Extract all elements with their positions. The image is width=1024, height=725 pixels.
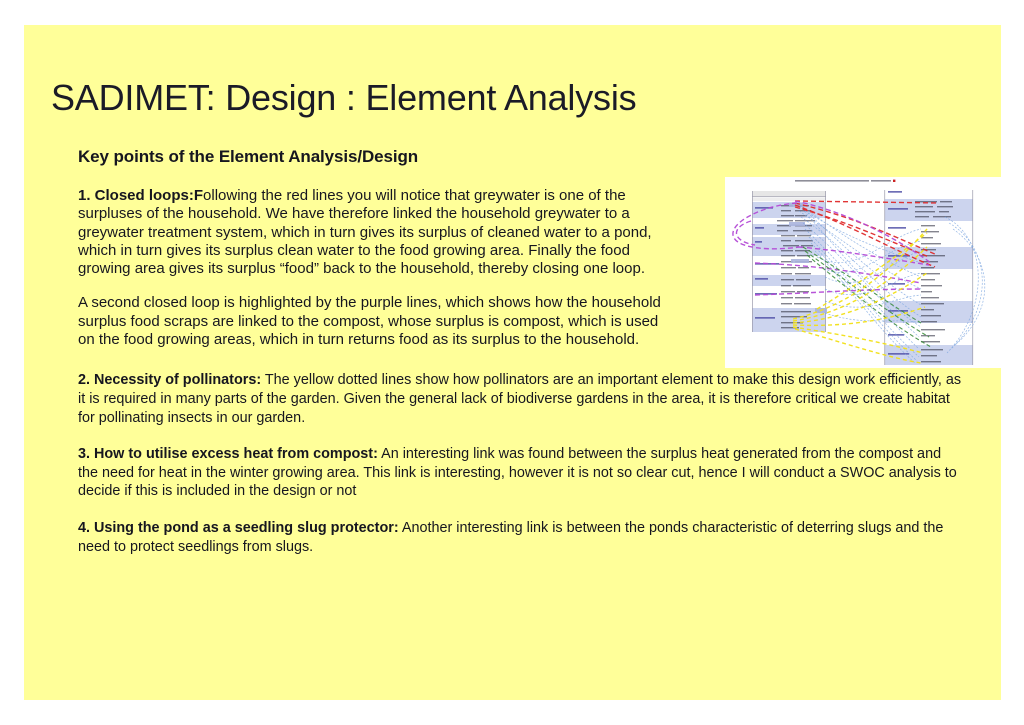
- slide-canvas: SADIMET: Design : Element Analysis Key p…: [24, 25, 1001, 700]
- diagram-caption-strip: [795, 180, 891, 182]
- paragraph-closed-loops-lead: 1. Closed loops:F: [78, 187, 203, 204]
- paragraph-pond-slug-protector: 4. Using the pond as a seedling slug pro…: [78, 519, 962, 556]
- section-heading: Key points of the Element Analysis/Desig…: [78, 147, 978, 167]
- paragraph-pollinators-lead: 2. Necessity of pollinators:: [78, 372, 261, 388]
- paragraph-pollinators: 2. Necessity of pollinators: The yellow …: [78, 371, 962, 427]
- paragraph-closed-loops: 1. Closed loops:Following the red lines …: [78, 187, 662, 278]
- element-analysis-diagram-image[interactable]: [725, 177, 1001, 368]
- paragraph-pond-slug-protector-lead: 4. Using the pond as a seedling slug pro…: [78, 520, 399, 536]
- paragraph-second-loop: A second closed loop is highlighted by t…: [78, 294, 662, 349]
- paragraph-excess-heat: 3. How to utilise excess heat from compo…: [78, 445, 962, 501]
- slide-body: Key points of the Element Analysis/Desig…: [78, 147, 978, 556]
- narrow-text-column: 1. Closed loops:Following the red lines …: [78, 187, 662, 349]
- element-analysis-diagram-svg: [725, 177, 1001, 368]
- wide-text-column: 2. Necessity of pollinators: The yellow …: [78, 371, 962, 556]
- paragraph-excess-heat-lead: 3. How to utilise excess heat from compo…: [78, 446, 378, 462]
- page-title: SADIMET: Design : Element Analysis: [51, 77, 636, 119]
- paragraph-second-loop-body: A second closed loop is highlighted by t…: [78, 294, 661, 348]
